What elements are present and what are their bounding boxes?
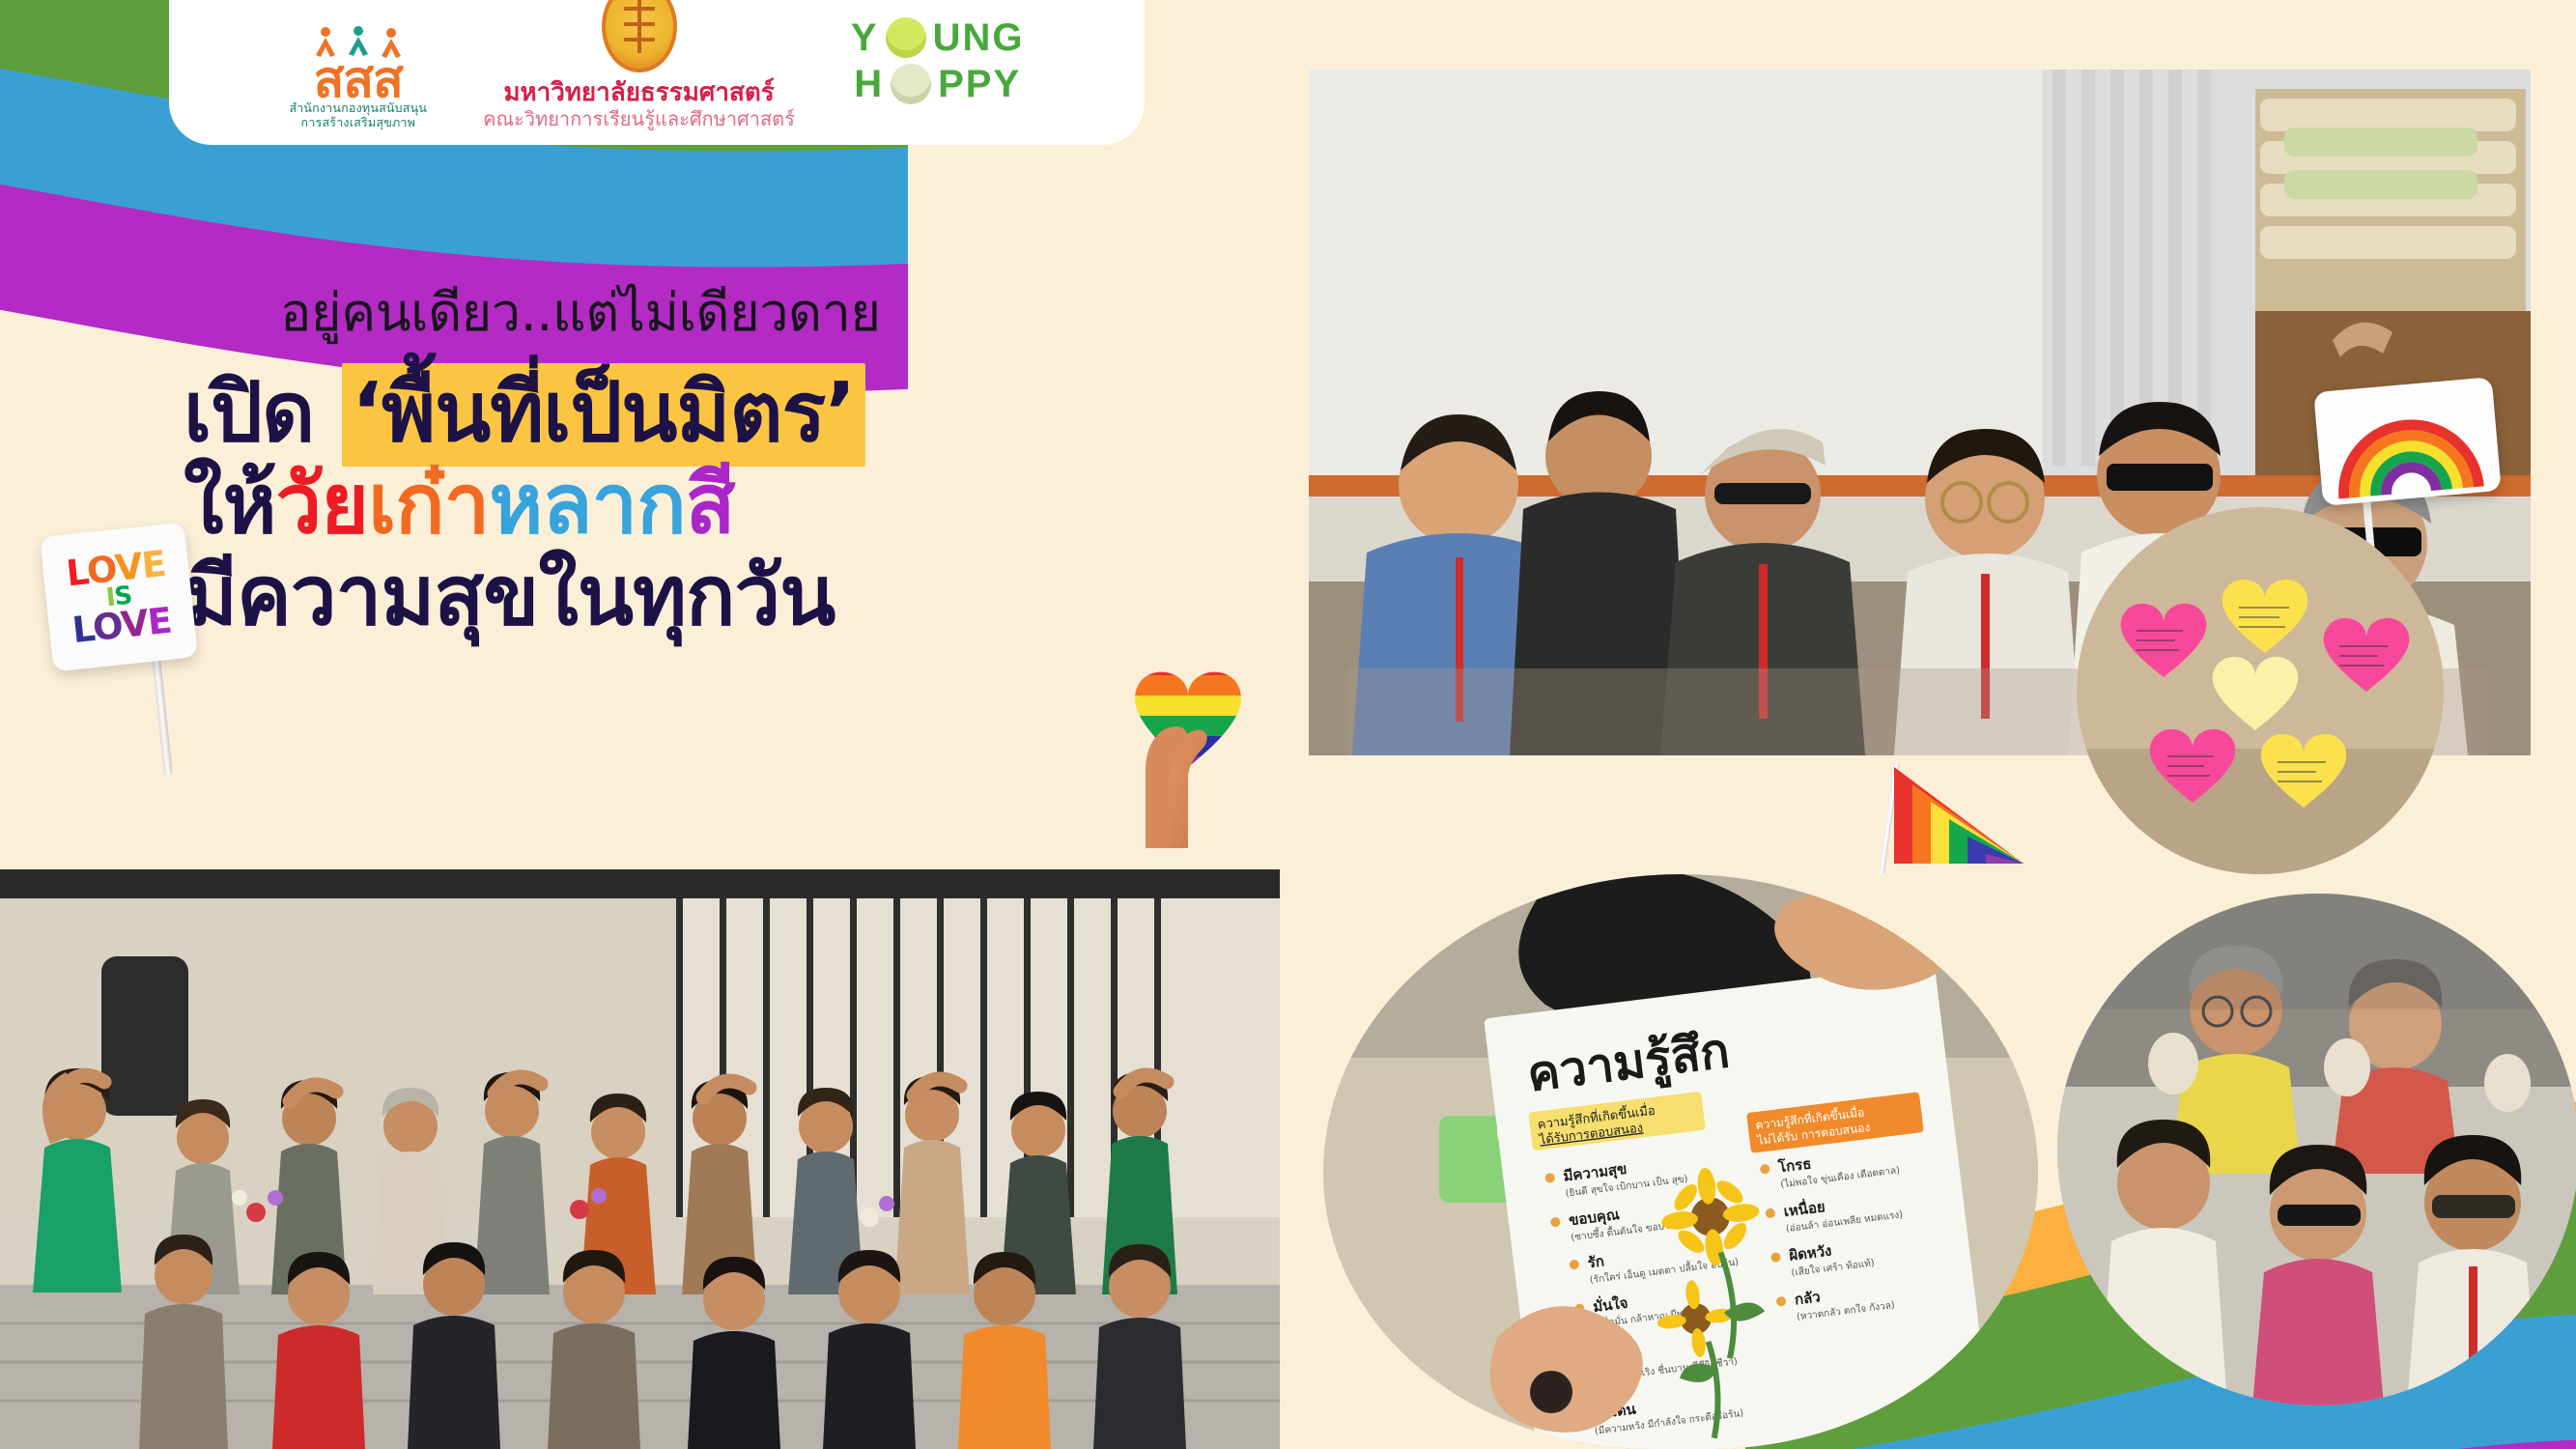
sss-wordmark: สสส (314, 60, 403, 101)
young-happy-line1: Y UNG (851, 17, 1025, 58)
logo-thammasat: มหาวิทยาลัยธรรมศาสตร์ คณะวิทยาการเรียนรู… (483, 0, 795, 131)
young-happy-line2: H PPY (854, 64, 1021, 104)
love-is-love-sign: LOVE IS LOVE (40, 523, 198, 672)
sign-pole (151, 649, 173, 775)
thammasat-faculty-name: คณะวิทยาการเรียนรู้และศึกษาศาสตร์ (483, 108, 795, 131)
yh-letter-h: H (854, 66, 884, 102)
photo-feelings-worksheet: ความรู้สึก ความรู้สึกที่เกิดขึ้นเมื่อ ได… (1323, 874, 2038, 1449)
headline-line2-part-c: เก๋า (368, 457, 489, 553)
headline-line2-part-d: หลาก (489, 457, 685, 553)
headline-line-1: เปิด ‘พื้นที่เป็นมิตร’ (184, 367, 1294, 459)
headline-line1-highlight: ‘พื้นที่เป็นมิตร’ (342, 363, 865, 467)
rainbow-pennant-flag-icon (1888, 763, 2028, 874)
sss-subtext-line2: การสร้างเสริมสุขภาพ (301, 116, 416, 131)
photo-sticky-hearts (2077, 507, 2444, 874)
headline-line2-part-e: สี (686, 457, 735, 553)
headline-line1-part-a: เปิด (184, 365, 314, 461)
headline-line2-part-a: ให้ (184, 457, 276, 553)
logo-young-happy: Y UNG H PPY (851, 17, 1025, 131)
headline-line2-part-b: วัย (276, 457, 369, 553)
sign-line-3: LOVE (71, 604, 173, 648)
young-face-icon (886, 17, 926, 58)
rainbow-heart-in-hand-icon (1091, 626, 1285, 848)
logo-sss: สสส สำนักงานกองทุนสนับสนุน การสร้างเสริม… (289, 30, 427, 131)
logo-panel: สสส สำนักงานกองทุนสนับสนุน การสร้างเสริม… (169, 0, 1145, 145)
rainbow-card-sign (2313, 377, 2502, 506)
yh-letter-y: Y (851, 19, 879, 56)
svg-text:กลัว: กลัว (1794, 1288, 1822, 1308)
headline-block: อยู่คนเดียว..แต่ไม่เดียวดาย เปิด ‘พื้นที… (184, 270, 1294, 643)
sss-subtext-line1: สำนักงานกองทุนสนับสนุน (289, 101, 427, 117)
svg-text:รัก: รัก (1587, 1252, 1605, 1271)
thammasat-seal-icon (602, 0, 677, 72)
headline-line-2: ให้วัยเก๋าหลากสี (184, 459, 1294, 551)
poster-canvas: สสส สำนักงานกองทุนสนับสนุน การสร้างเสริม… (0, 0, 2576, 1449)
yh-letters-ppy: PPY (938, 66, 1021, 102)
photo-participants-circle (2057, 894, 2576, 1406)
photo-group-activity (0, 869, 1280, 1449)
headline-subtitle: อยู่คนเดียว..แต่ไม่เดียวดาย (280, 270, 1294, 354)
thammasat-university-name: มหาวิทยาลัยธรรมศาสตร์ (503, 78, 774, 107)
yh-letters-ung: UNG (933, 19, 1025, 56)
happy-face-icon (891, 64, 931, 104)
